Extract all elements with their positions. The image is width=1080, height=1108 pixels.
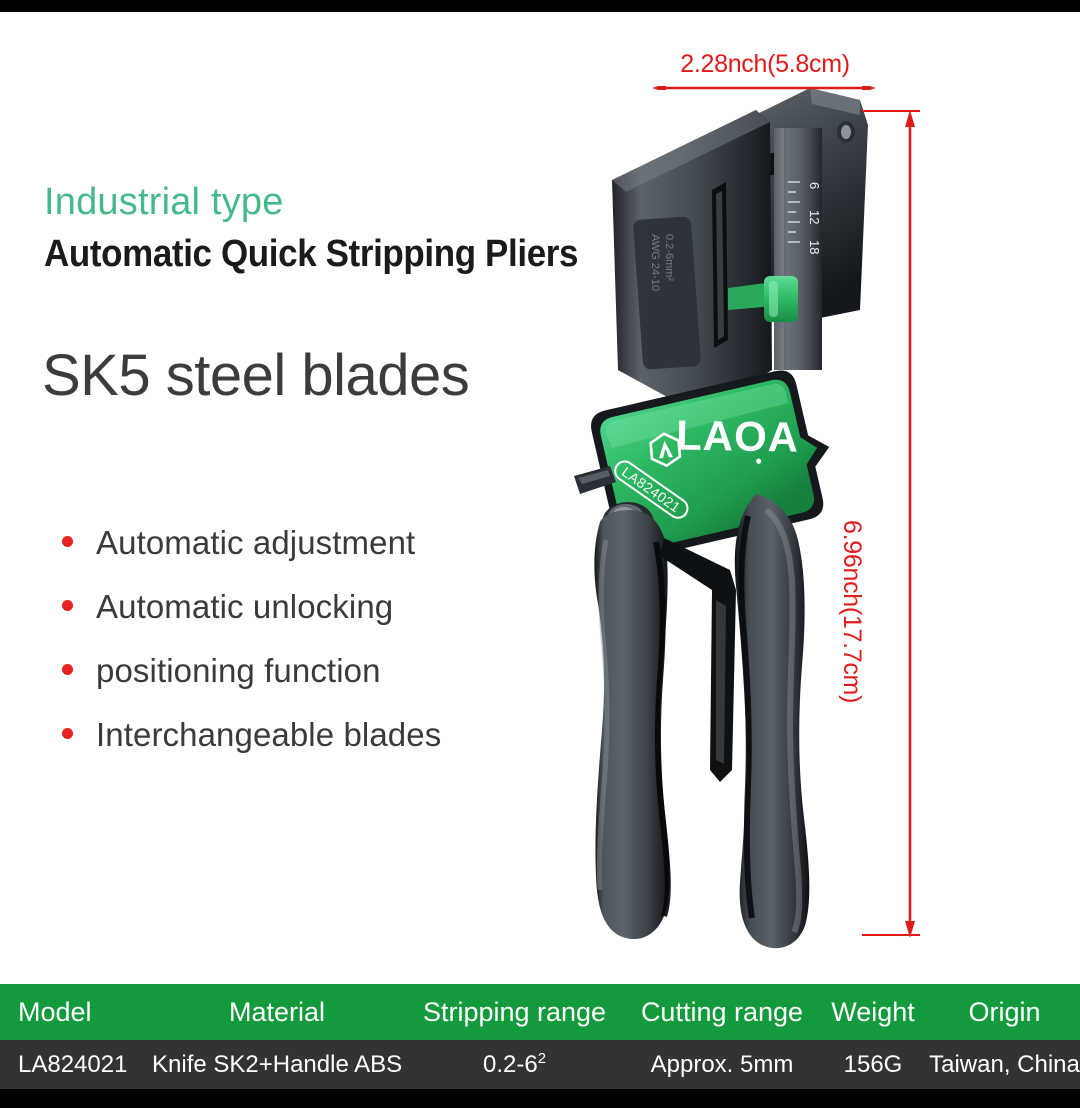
table-row: LA824021 Knife SK2+Handle ABS 0.2-62 App… (0, 1040, 1080, 1089)
list-item: Interchangeable blades (62, 716, 562, 780)
height-dimension-label: 6.96nch(17.7cm) (837, 520, 866, 703)
top-black-bar (0, 0, 1080, 12)
product-infographic: Industrial type Automatic Quick Strippin… (0, 0, 1080, 1108)
tool-left-handle[interactable] (594, 510, 669, 939)
svg-text:18: 18 (807, 240, 822, 254)
brand-wordmark: LAOA (676, 412, 800, 461)
trigger-linkage (660, 538, 736, 782)
subheading-text: SK5 steel blades (42, 342, 469, 409)
list-item: positioning function (62, 652, 562, 716)
page-title: Automatic Quick Stripping Pliers (44, 233, 578, 276)
spec-table: Model Material Stripping range Cutting r… (0, 984, 1080, 1089)
column-header-model: Model (0, 997, 152, 1028)
feature-label: Automatic adjustment (96, 524, 415, 562)
cell-weight: 156G (817, 1051, 929, 1079)
list-item: Automatic unlocking (62, 588, 562, 652)
bottom-black-bar (0, 1089, 1080, 1108)
feature-label: positioning function (96, 652, 381, 690)
svg-text:12: 12 (807, 210, 822, 224)
svg-text:6: 6 (807, 182, 822, 189)
eyebrow-text: Industrial type (44, 181, 284, 224)
stripping-range-value: 0.2-6 (483, 1051, 538, 1078)
width-dimension-label: 2.28nch(5.8cm) (652, 50, 878, 79)
svg-text:AWG 24-10: AWG 24-10 (649, 234, 661, 291)
width-dimension-arrow (652, 86, 876, 90)
height-dimension-arrow (898, 110, 922, 938)
column-header-weight: Weight (817, 997, 929, 1028)
tool-frame-body: 0.2-6mm² AWG 24-10 (612, 110, 772, 415)
list-item: Automatic adjustment (62, 524, 562, 588)
tool-right-handle[interactable] (735, 494, 810, 948)
column-header-stripping-range: Stripping range (402, 997, 627, 1028)
stripping-range-superscript: 2 (538, 1051, 546, 1067)
cell-origin: Taiwan, China (929, 1051, 1080, 1079)
tool-depth-gauge-slide: 6 12 18 (774, 128, 822, 370)
feature-list: Automatic adjustment Automatic unlocking… (62, 524, 562, 780)
column-header-cutting-range: Cutting range (627, 997, 817, 1028)
svg-text:0.2-6mm²: 0.2-6mm² (663, 234, 675, 281)
product-image: 0.2-6mm² AWG 24-10 6 (560, 70, 940, 960)
table-header-row: Model Material Stripping range Cutting r… (0, 984, 1080, 1040)
bullet-icon (62, 728, 73, 739)
feature-label: Automatic unlocking (96, 588, 393, 626)
column-header-origin: Origin (929, 997, 1080, 1028)
column-header-material: Material (152, 997, 402, 1028)
cell-model: LA824021 (0, 1051, 152, 1079)
bullet-icon (62, 664, 73, 675)
bullet-icon (62, 600, 73, 611)
bullet-icon (62, 536, 73, 547)
cell-material: Knife SK2+Handle ABS (152, 1051, 402, 1079)
feature-label: Interchangeable blades (96, 716, 441, 754)
cell-stripping-range: 0.2-62 (402, 1051, 627, 1079)
cell-cutting-range: Approx. 5mm (627, 1051, 817, 1079)
